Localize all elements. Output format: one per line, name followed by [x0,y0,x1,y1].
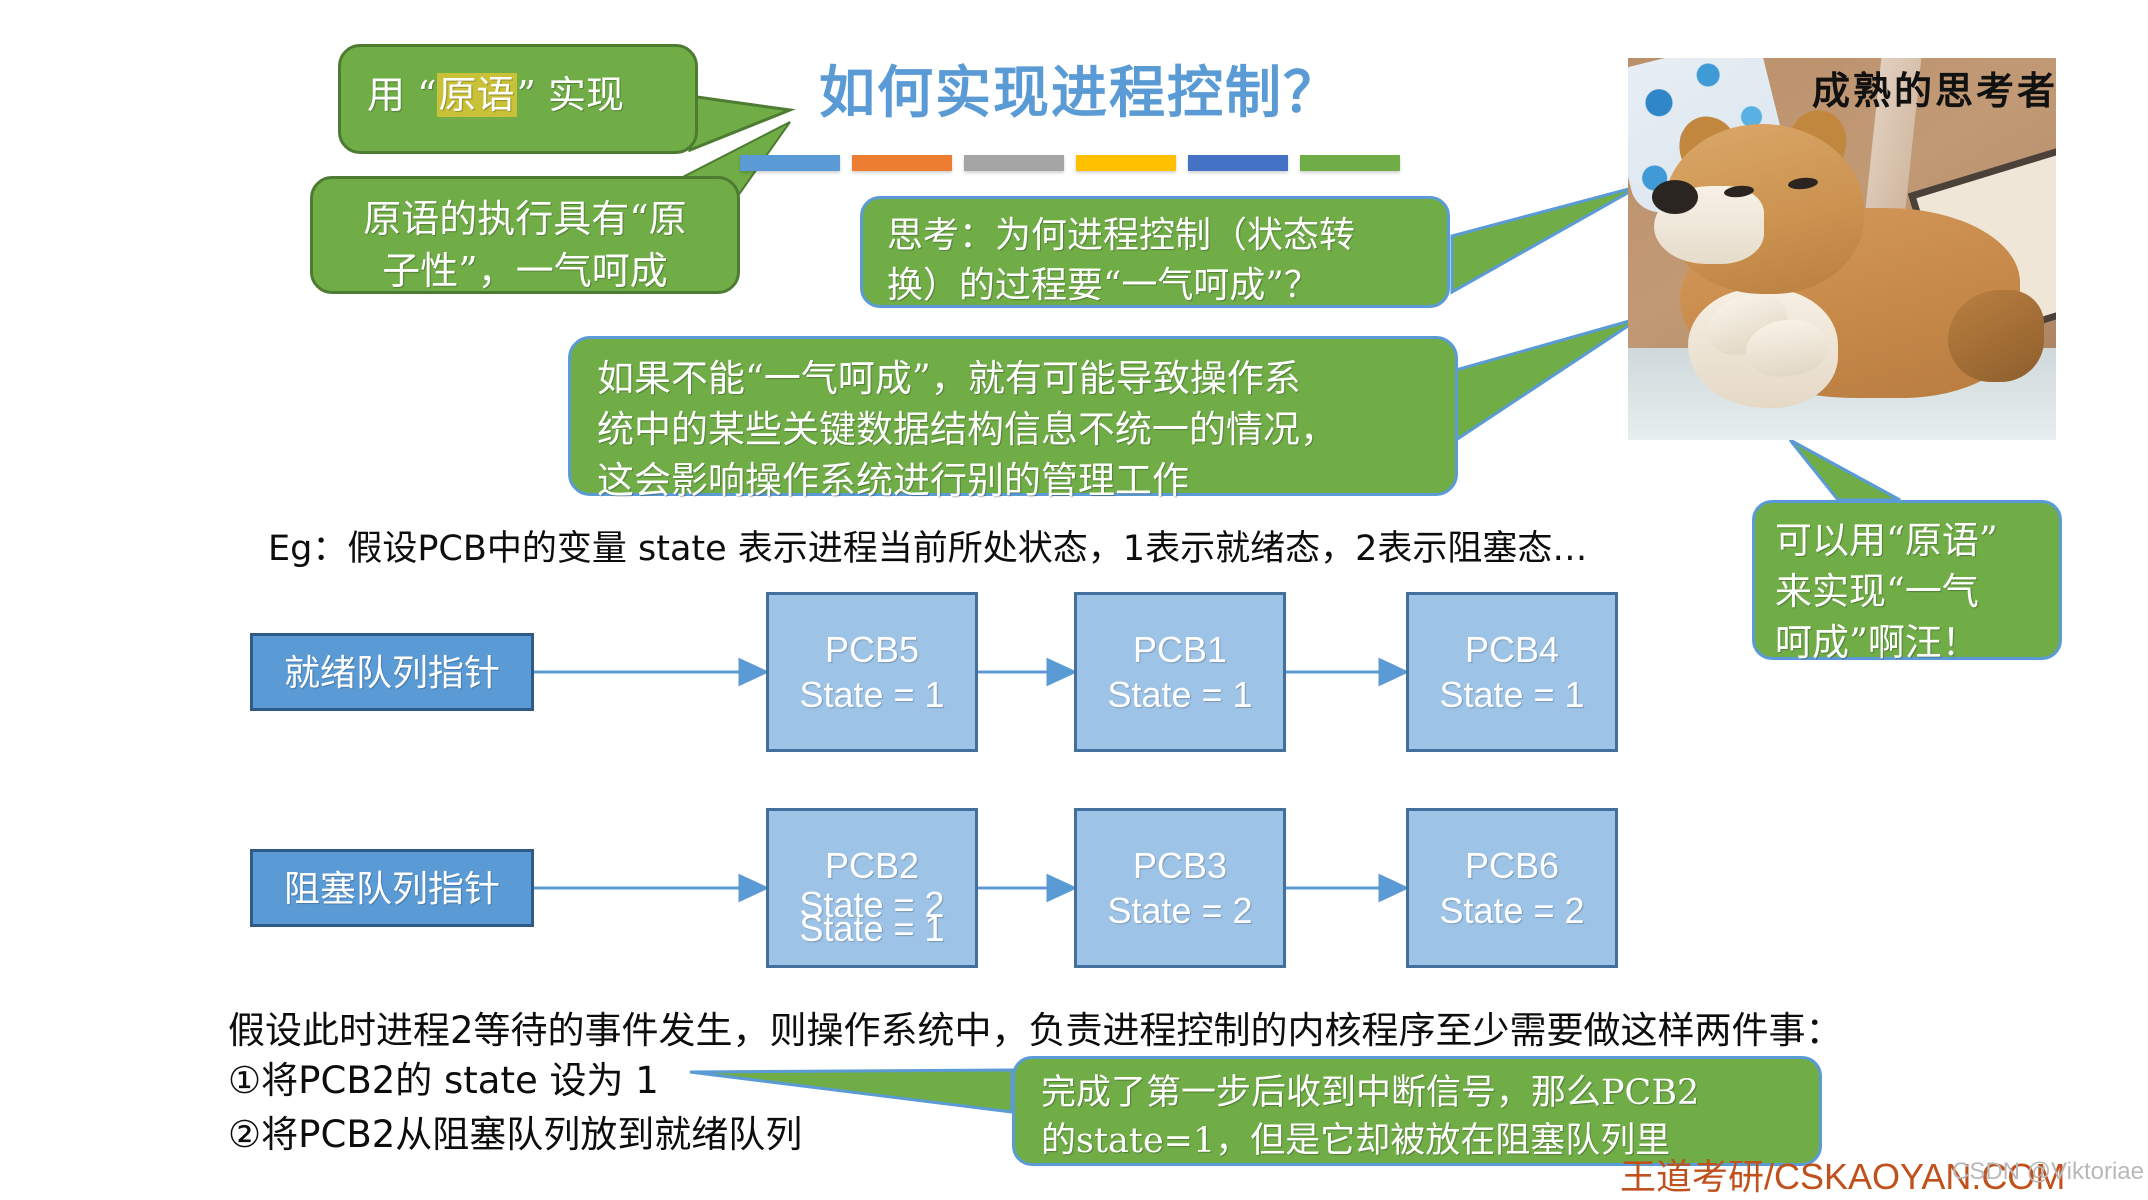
conclusion-line-2: ①将PCB2的 state 设为 1 [228,1050,659,1104]
blocked-queue-pointer-label: 阻塞队列指针 [284,866,500,911]
callout-consequence-line-1: 如果不能“一气呵成”，就有可能导致操作系 [597,353,1429,404]
conclusion-line-1: 假设此时进程2等待的事件发生，则操作系统中，负责进程控制的内核程序至少需要做这样… [228,1000,1843,1054]
photo-caption: 成熟的思考者 [1812,60,2058,115]
accent-bar-4 [1076,155,1176,171]
callout-text-after: ” 实现 [517,73,625,117]
callout-text-before: 用 “ [367,73,437,117]
callout-atomicity-line-1: 原语的执行具有“原 [339,193,711,245]
callout-use-primitive: 用 “原语” 实现 [338,44,698,154]
shiba-puppy-photo [1628,58,2056,440]
blocked-queue-pointer: 阻塞队列指针 [250,849,534,927]
pcb-name: PCB1 [1133,627,1227,672]
callout-think-line-1: 思考：为何进程控制（状态转 [887,211,1423,261]
pcb-name: PCB3 [1133,843,1227,888]
accent-bar-group [740,155,1400,171]
pcb-name: PCB4 [1465,627,1559,672]
pcb-state: State = 1 [1107,672,1252,717]
callout-consequence-line-3: 这会影响操作系统进行别的管理工作 [597,455,1429,506]
pcb-state-overlay: State = 1 [769,906,975,951]
pcb-node-blocked-2: PCB3 State = 2 [1074,808,1286,968]
conclusion-line-3: ②将PCB2从阻塞队列放到就绪队列 [228,1104,802,1158]
pcb-state: State = 1 [1439,672,1584,717]
pcb-name: PCB5 [825,627,919,672]
callout-interrupt-line-1: 完成了第一步后收到中断信号，那么PCB2 [1041,1069,1793,1117]
pcb-state: State = 1 [799,672,944,717]
pcb-node-blocked-3: PCB6 State = 2 [1406,808,1618,968]
callout-consequence-line-2: 统中的某些关键数据结构信息不统一的情况， [597,404,1429,455]
callout-dog-says-line-2: 来实现“一气 [1775,566,2039,617]
pcb-state: State = 2 [1439,888,1584,933]
dog-tail [1948,290,2044,382]
accent-bar-5 [1188,155,1288,171]
callout-think-question: 思考：为何进程控制（状态转 换）的过程要“一气呵成”？ [860,196,1450,308]
callout-atomicity-line-2: 子性”，一气呵成 [339,245,711,297]
accent-bar-3 [964,155,1064,171]
pcb-node-ready-2: PCB1 State = 1 [1074,592,1286,752]
callout-dog-says-line-3: 呵成”啊汪！ [1775,617,2039,668]
ready-queue-pointer-label: 就绪队列指针 [284,650,500,695]
ready-queue-pointer: 就绪队列指针 [250,633,534,711]
watermark-csdn: CSDN @Viktoriae [1952,1158,2144,1186]
callout-dog-says: 可以用“原语” 来实现“一气 呵成”啊汪！ [1752,500,2062,660]
callout-consequence: 如果不能“一气呵成”，就有可能导致操作系 统中的某些关键数据结构信息不统一的情况… [568,336,1458,496]
example-description-line: Eg：假设PCB中的变量 state 表示进程当前所处状态，1表示就绪态，2表示… [268,520,1587,571]
dog-nose [1652,180,1698,214]
callout-text-highlight: 原语 [437,73,517,117]
slide-canvas: 如何实现进程控制？ 成熟的思考者 用 “原语” 实现 原语的执行具有“原 [0,0,2148,1200]
accent-bar-6 [1300,155,1400,171]
accent-bar-2 [852,155,952,171]
pcb-node-ready-3: PCB4 State = 1 [1406,592,1618,752]
pcb-name: PCB6 [1465,843,1559,888]
pcb-state: State = 2 [1107,888,1252,933]
callout-dog-says-line-1: 可以用“原语” [1775,515,2039,566]
pcb-node-ready-1: PCB5 State = 1 [766,592,978,752]
page-title: 如何实现进程控制？ [760,48,1400,129]
pcb-state-overlap-group: State = 2 State = 1 [769,888,975,934]
callout-think-line-2: 换）的过程要“一气呵成”？ [887,261,1423,311]
pcb-node-blocked-1: PCB2 State = 2 State = 1 [766,808,978,968]
callout-atomicity: 原语的执行具有“原 子性”，一气呵成 [310,176,740,294]
accent-bar-1 [740,155,840,171]
